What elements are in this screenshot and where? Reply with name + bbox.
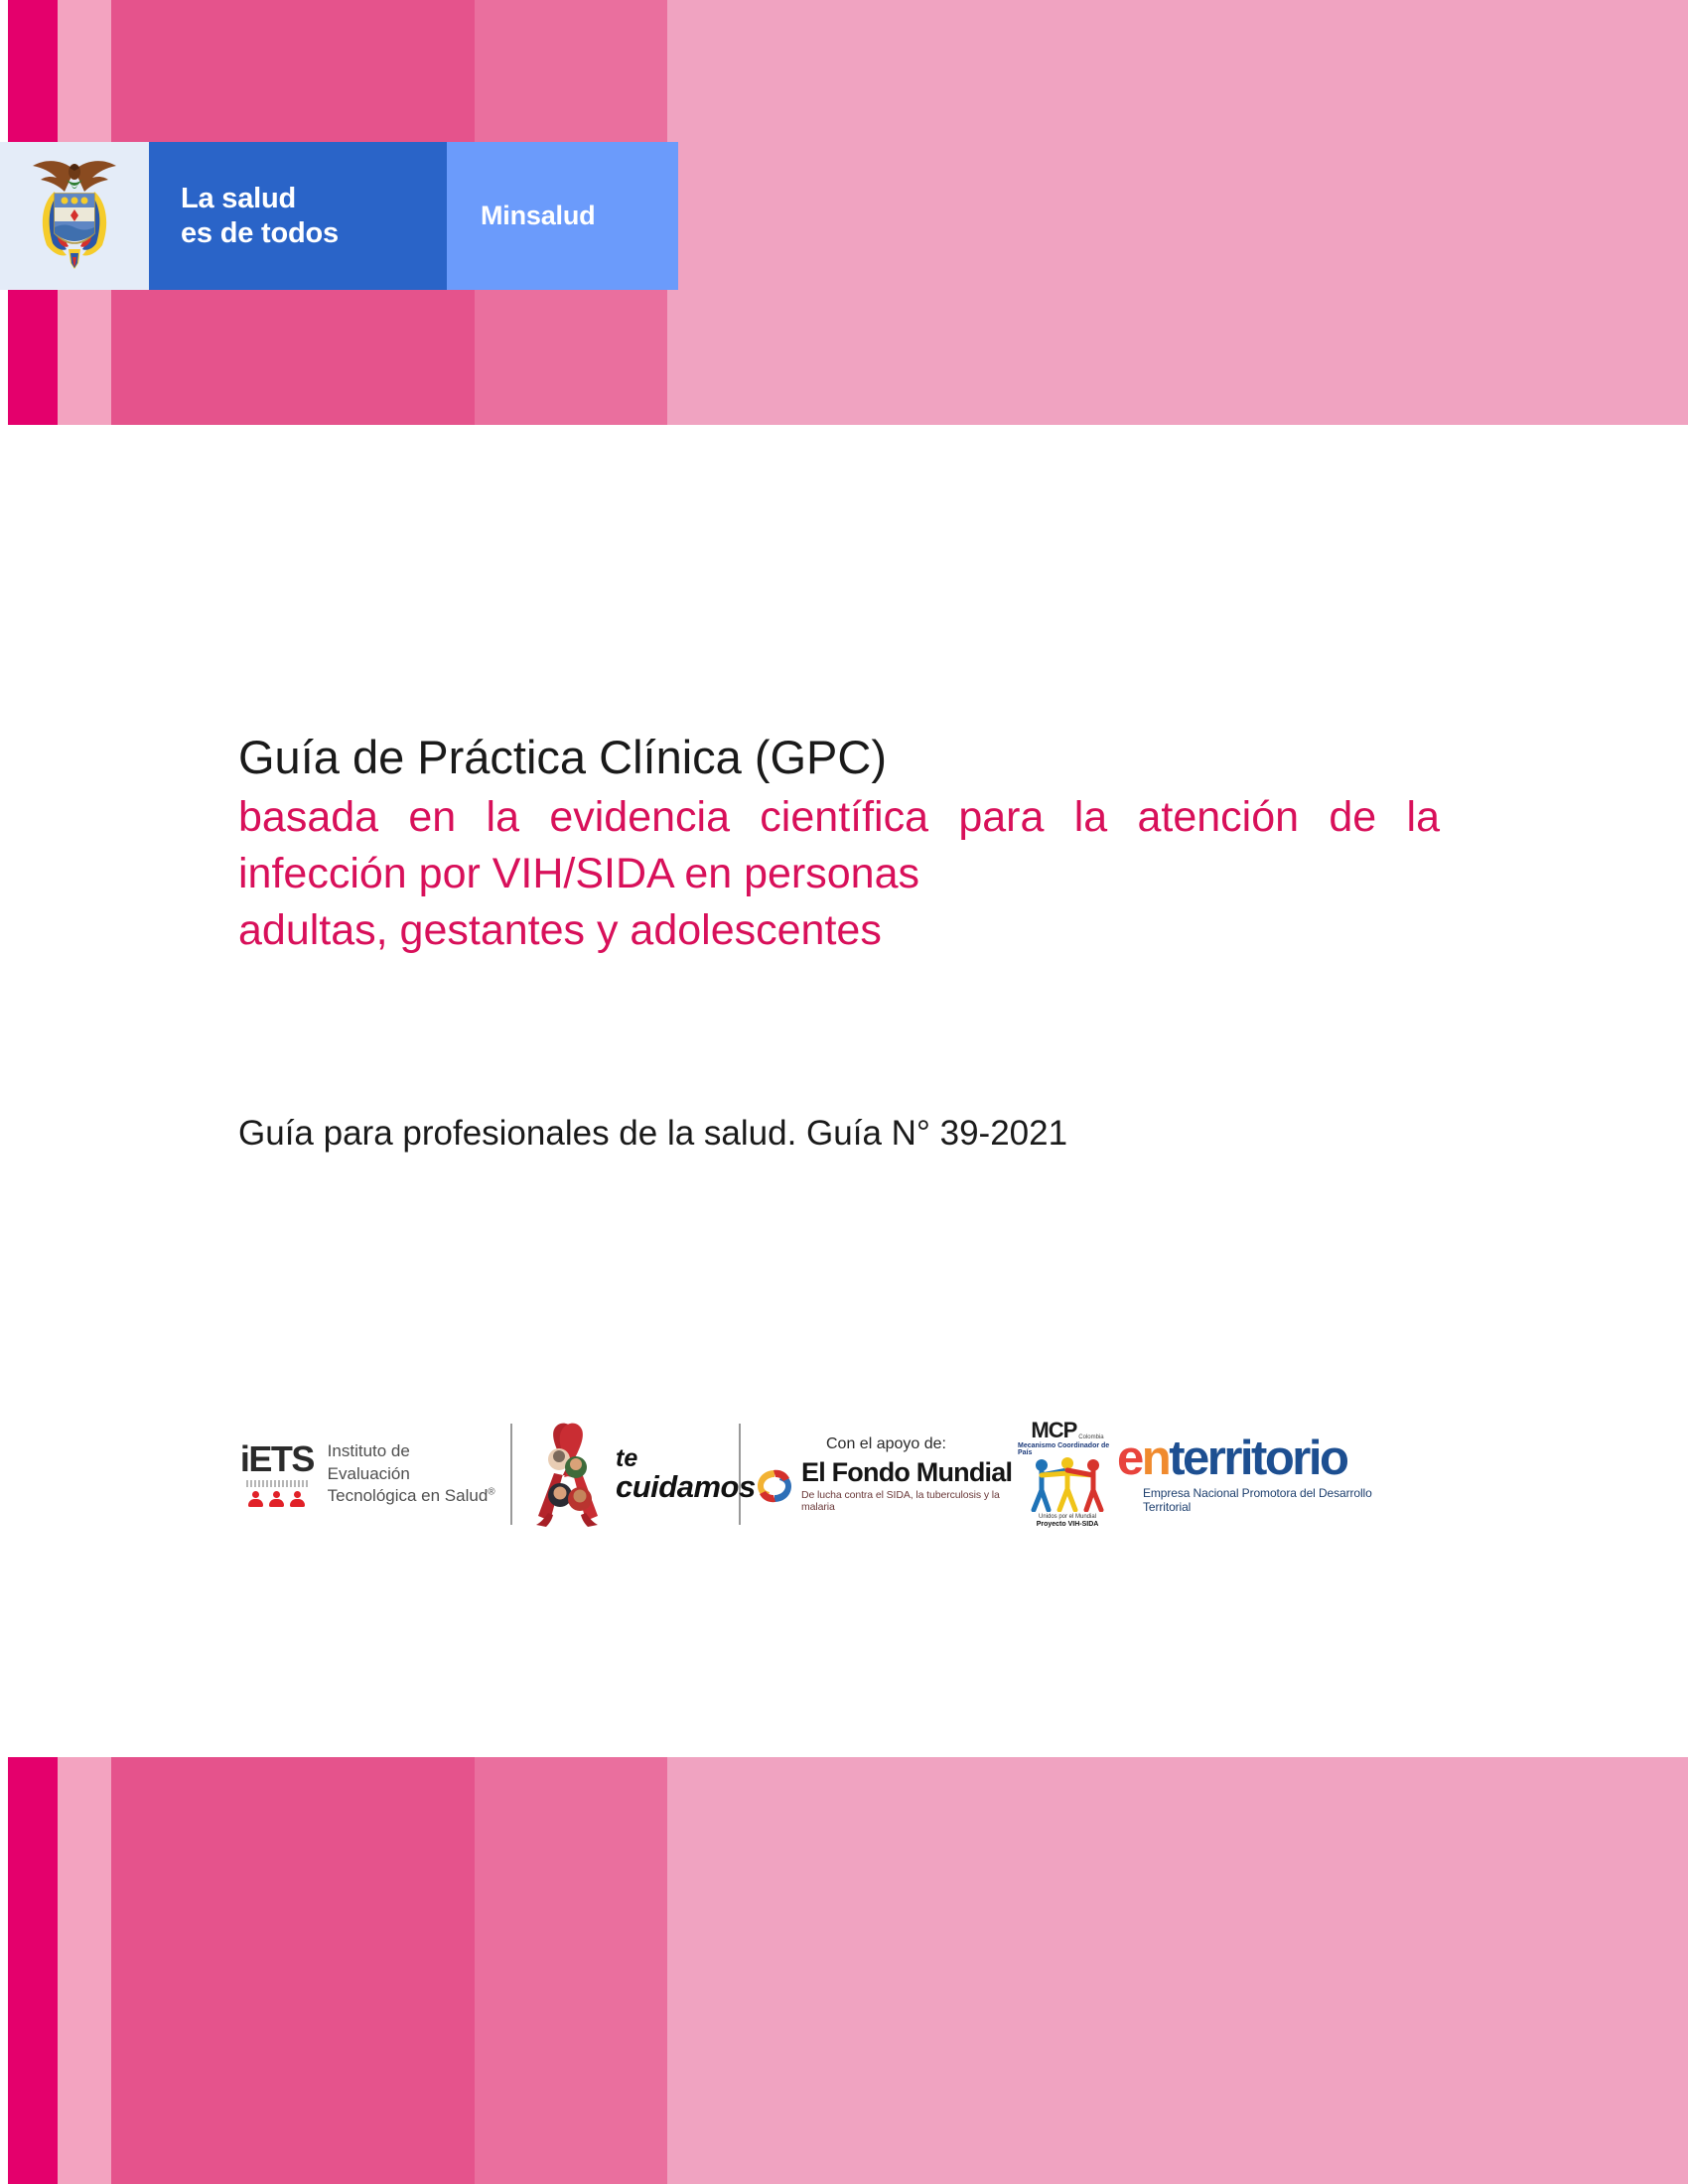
three-people-icon [248, 1491, 305, 1507]
minsalud-logo: La salud es de todos Minsalud [0, 142, 678, 290]
enterritorio-part-n: n [1142, 1432, 1169, 1485]
iets-name-line1: Instituto de Evaluación [328, 1440, 496, 1486]
minsalud-brand-panel: Minsalud [447, 142, 678, 290]
enterritorio-part-e: e [1117, 1432, 1142, 1485]
iets-mark: iETS [238, 1441, 316, 1507]
logo-te-cuidamos: te cuidamos [526, 1420, 725, 1529]
minsalud-slogan-panel: La salud es de todos [149, 142, 447, 290]
enterritorio-part-territorio: territorio [1169, 1432, 1346, 1485]
minsalud-slogan-line1: La salud [181, 182, 447, 215]
mcp-footer-small: Unidos por el Mundial [1037, 1514, 1099, 1521]
iets-registered-mark: ® [488, 1487, 494, 1498]
stripe-pale-pink-1-bottom [58, 1757, 111, 2184]
global-fund-swirl-icon [755, 1466, 794, 1506]
enterritorio-wordmark: enterritorio [1117, 1434, 1346, 1483]
logo-enterritorio: enterritorio Empresa Nacional Promotora … [1117, 1434, 1405, 1514]
fondo-support-label: Con el apoyo de: [826, 1435, 946, 1453]
stripe-white-left-bottom [0, 1757, 8, 2184]
fondo-mundial-tagline: De lucha contra el SIDA, la tuberculosis… [801, 1489, 1018, 1513]
document-title: Guía de Práctica Clínica (GPC) [238, 730, 1430, 785]
stripe-medium-pink-bottom [111, 1757, 475, 2184]
te-cuidamos-line2: cuidamos [616, 1471, 756, 1502]
logo-iets: iETS Instituto de Evaluación Tecnológica… [238, 1440, 496, 1509]
iets-tick-row [246, 1480, 308, 1487]
logo-mcp: MCP Colombia Mecanismo Coordinador de Pa… [1018, 1420, 1117, 1530]
fondo-mundial-name: El Fondo Mundial [801, 1459, 1018, 1486]
stripe-magenta-bottom [8, 1757, 58, 2184]
document-subtitle: basada en la evidencia científica para l… [238, 789, 1440, 960]
guide-number-line: Guía para profesionales de la salud. Guí… [238, 1114, 1067, 1154]
minsalud-brand-label: Minsalud [481, 201, 595, 231]
mcp-footer: Unidos por el Mundial Proyecto VIH-SIDA [1037, 1514, 1099, 1530]
subtitle-line-1: basada en la evidencia científica para l… [238, 793, 1299, 841]
title-block: Guía de Práctica Clínica (GPC) basada en… [238, 730, 1430, 959]
sponsor-logos-row: iETS Instituto de Evaluación Tecnológica… [238, 1415, 1460, 1534]
logo-divider-1 [510, 1424, 512, 1525]
three-figures-icon [1025, 1456, 1110, 1512]
enterritorio-tagline: Empresa Nacional Promotora del Desarroll… [1143, 1486, 1405, 1514]
colombia-coat-of-arms-icon [21, 150, 128, 282]
logo-fondo-mundial: Con el apoyo de: El Fondo Mundial [755, 1435, 1018, 1513]
iets-name: Instituto de Evaluación Tecnológica en S… [328, 1440, 496, 1509]
mcp-footer-bold: Proyecto VIH-SIDA [1037, 1521, 1099, 1528]
cover-page: La salud es de todos Minsalud Guía de Pr… [0, 0, 1688, 2184]
te-cuidamos-wordmark: te cuidamos [616, 1446, 756, 1502]
mcp-acronym: MCP [1031, 1420, 1076, 1441]
mcp-sub-line2: Mecanismo Coordinador de País [1018, 1442, 1117, 1456]
bottom-decorative-band [0, 1757, 1688, 2184]
stripe-light-pink-bottom [667, 1757, 1688, 2184]
mcp-sub-line1: Colombia [1078, 1434, 1103, 1441]
stripe-light-pink [667, 0, 1688, 425]
aids-ribbon-icon [526, 1420, 610, 1529]
minsalud-slogan-line2: es de todos [181, 216, 447, 250]
coat-of-arms-panel [0, 142, 149, 290]
te-cuidamos-line1: te [616, 1446, 756, 1471]
stripe-mid-pink-bottom [475, 1757, 667, 2184]
iets-wordmark: iETS [240, 1441, 314, 1477]
subtitle-line-3: adultas, gestantes y adolescentes [238, 902, 1440, 959]
iets-name-line2: Tecnológica en Salud [328, 1486, 489, 1505]
